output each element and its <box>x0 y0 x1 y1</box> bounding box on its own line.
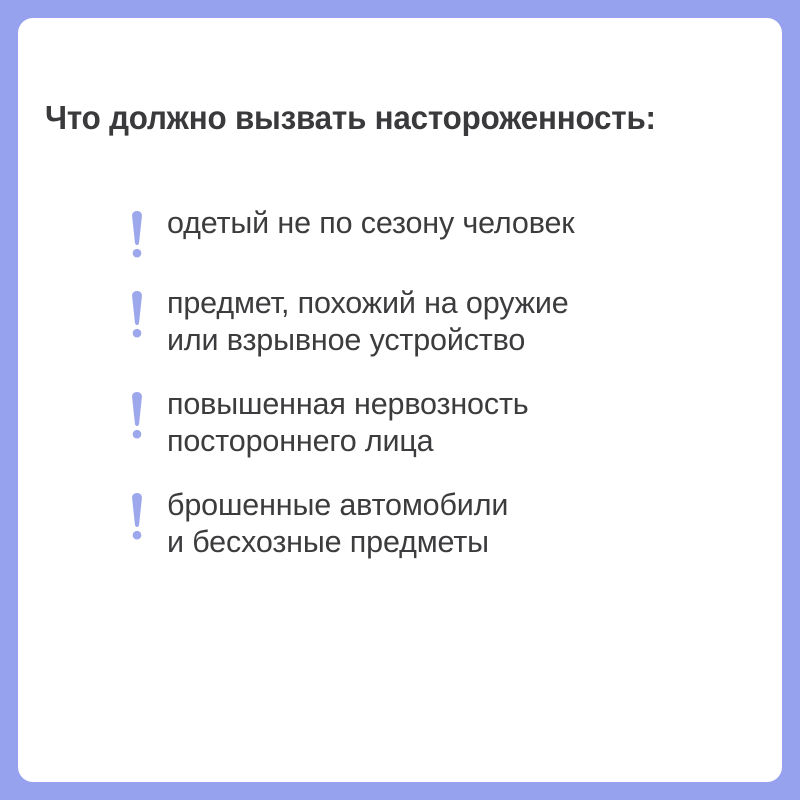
exclamation-mark-icon <box>130 290 144 338</box>
warning-list: одетый не по сезону человек предмет, пох… <box>130 208 762 561</box>
list-item-label: предмет, похожий на оружие или взрывное … <box>167 285 569 359</box>
exclamation-mark-icon <box>130 210 144 258</box>
list-item-label: повышенная нервозность постороннего лица <box>167 386 529 460</box>
list-item: предмет, похожий на оружие или взрывное … <box>130 288 762 359</box>
list-item-label: одетый не по сезону человек <box>167 205 574 242</box>
exclamation-mark-icon <box>130 391 144 439</box>
white-card: Что должно вызвать настороженность: одет… <box>18 18 782 782</box>
list-item-label: брошенные автомобили и бесхозные предмет… <box>167 487 508 561</box>
poster-root: Что должно вызвать настороженность: одет… <box>0 0 800 800</box>
exclamation-mark-icon <box>130 492 144 540</box>
list-item: повышенная нервозность постороннего лица <box>130 389 762 460</box>
list-item: одетый не по сезону человек <box>130 208 762 258</box>
page-title: Что должно вызвать настороженность: <box>45 99 726 137</box>
list-item: брошенные автомобили и бесхозные предмет… <box>130 490 762 561</box>
